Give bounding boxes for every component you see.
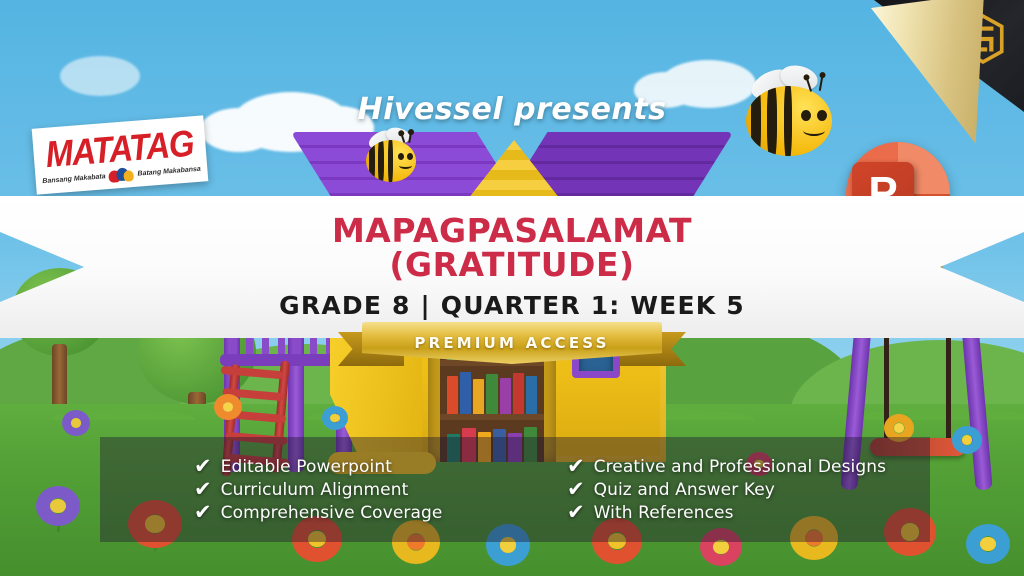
- flower-icon: [952, 426, 982, 454]
- list-item: ✔ Comprehensive Coverage: [194, 502, 557, 523]
- ribbon-label: PREMIUM ACCESS: [414, 334, 609, 352]
- check-icon: ✔: [567, 456, 585, 477]
- list-item: ✔ Editable Powerpoint: [194, 456, 557, 477]
- premium-ribbon: PREMIUM ACCESS: [0, 322, 1024, 376]
- matatag-emblem-icon: [108, 167, 135, 183]
- flower-icon: [36, 486, 80, 526]
- list-item: ✔ With References: [567, 502, 930, 523]
- title-line-2: (GRATITUDE): [332, 248, 692, 282]
- title-subtitle: GRADE 8 | QUARTER 1: WEEK 5: [279, 291, 745, 320]
- presents-headline: Hivessel presents: [0, 92, 1024, 127]
- matatag-logo: MATATAG Bansang Makabata Batang Makabans…: [32, 115, 209, 194]
- feature-label: Curriculum Alignment: [221, 480, 409, 500]
- feature-label: Creative and Professional Designs: [594, 457, 886, 477]
- flower-icon: [966, 524, 1010, 564]
- feature-label: Quiz and Answer Key: [594, 480, 775, 500]
- flower-icon: [322, 406, 348, 430]
- feature-label: With References: [594, 503, 734, 523]
- title-line-1: MAPAGPASALAMAT: [332, 214, 692, 248]
- cloud-icon: [60, 56, 140, 96]
- features-list: ✔ Editable Powerpoint ✔ Creative and Pro…: [100, 437, 930, 542]
- bee-icon: [366, 140, 416, 182]
- bee-icon: [746, 86, 832, 156]
- check-icon: ✔: [194, 502, 212, 523]
- list-item: ✔ Curriculum Alignment: [194, 479, 557, 500]
- list-item: ✔ Quiz and Answer Key: [567, 479, 930, 500]
- check-icon: ✔: [567, 479, 585, 500]
- page-title: MAPAGPASALAMAT (GRATITUDE): [332, 214, 692, 282]
- feature-label: Comprehensive Coverage: [221, 503, 443, 523]
- feature-label: Editable Powerpoint: [221, 457, 392, 477]
- list-item: ✔ Creative and Professional Designs: [567, 456, 930, 477]
- check-icon: ✔: [194, 479, 212, 500]
- check-icon: ✔: [194, 456, 212, 477]
- flower-icon: [62, 410, 90, 436]
- slide-cover: MATATAG Bansang Makabata Batang Makabans…: [0, 0, 1024, 576]
- check-icon: ✔: [567, 502, 585, 523]
- flower-icon: [214, 394, 242, 420]
